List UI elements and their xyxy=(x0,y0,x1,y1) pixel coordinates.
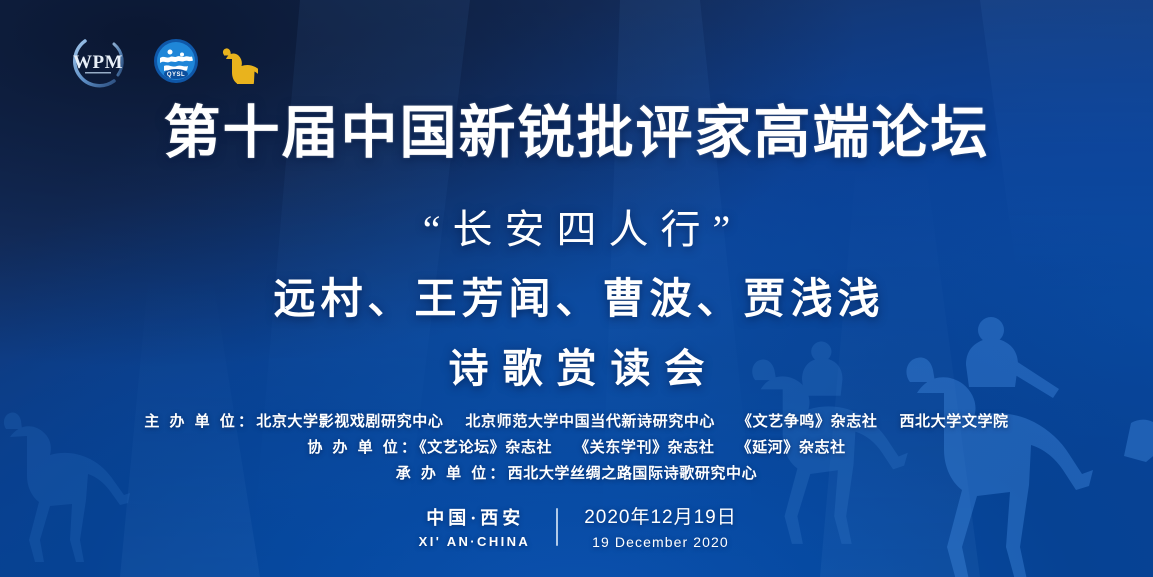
camel-logo xyxy=(218,38,258,84)
organizer-line: 主 办 单 位：北京大学影视戏剧研究中心北京师范大学中国当代新诗研究中心《文艺争… xyxy=(0,409,1153,435)
logo-row: WPM QYSL xyxy=(62,33,258,89)
qysl-logo: QYSL xyxy=(153,38,199,84)
event-type-title: 诗歌赏读会 xyxy=(0,336,1153,394)
organizer-item: 西北大学文学院 xyxy=(899,414,1008,430)
organizer-item: 《关东学刊》杂志社 xyxy=(574,440,714,456)
footer-date-cn: 2020年12月19日 xyxy=(584,506,737,530)
organizer-item: 《延河》杂志社 xyxy=(736,440,845,456)
organizer-item: 北京大学影视戏剧研究中心 xyxy=(256,414,443,430)
wpm-logo: WPM xyxy=(62,33,134,89)
subtitle-quote: “长安四人行” xyxy=(0,197,1153,255)
page-title: 第十届中国新锐批评家高端论坛 xyxy=(0,103,1153,165)
footer-location-cn: 中国·西安 xyxy=(416,506,530,530)
footer-location-en: XI' AN·CHINA xyxy=(416,532,530,552)
organizer-line: 承 办 单 位：西北大学丝绸之路国际诗歌研究中心 xyxy=(0,461,1153,487)
organizer-label: 主 办 单 位： xyxy=(144,414,256,430)
footer-date-en: 19 December 2020 xyxy=(584,532,737,552)
footer-location: 中国·西安 XI' AN·CHINA xyxy=(390,506,556,552)
organizer-label: 承 办 单 位： xyxy=(396,466,508,482)
poster-canvas: WPM QYSL 第十届中国新锐批评家高端论坛 “长安四人行” 远村、王芳闻 xyxy=(0,0,1153,577)
participant-names: 远村、王芳闻、曹波、贾浅浅 xyxy=(0,265,1153,326)
organizer-item: 北京师范大学中国当代新诗研究中心 xyxy=(465,414,715,430)
organizers-block: 主 办 单 位：北京大学影视戏剧研究中心北京师范大学中国当代新诗研究中心《文艺争… xyxy=(0,409,1153,487)
organizer-item: 《文艺论坛》杂志社 xyxy=(419,440,552,456)
footer-block: 中国·西安 XI' AN·CHINA 2020年12月19日 19 Decemb… xyxy=(0,506,1153,552)
organizer-line: 协 办 单 位：《文艺论坛》杂志社《关东学刊》杂志社《延河》杂志社 xyxy=(0,435,1153,461)
footer-divider xyxy=(556,508,558,546)
svg-text:QYSL: QYSL xyxy=(167,72,185,78)
footer-date: 2020年12月19日 19 December 2020 xyxy=(558,506,763,552)
svg-text:WPM: WPM xyxy=(73,52,123,73)
organizer-item: 《文艺争鸣》杂志社 xyxy=(737,414,877,430)
organizer-item: 西北大学丝绸之路国际诗歌研究中心 xyxy=(508,466,758,482)
organizer-label: 协 办 单 位： xyxy=(307,440,419,456)
